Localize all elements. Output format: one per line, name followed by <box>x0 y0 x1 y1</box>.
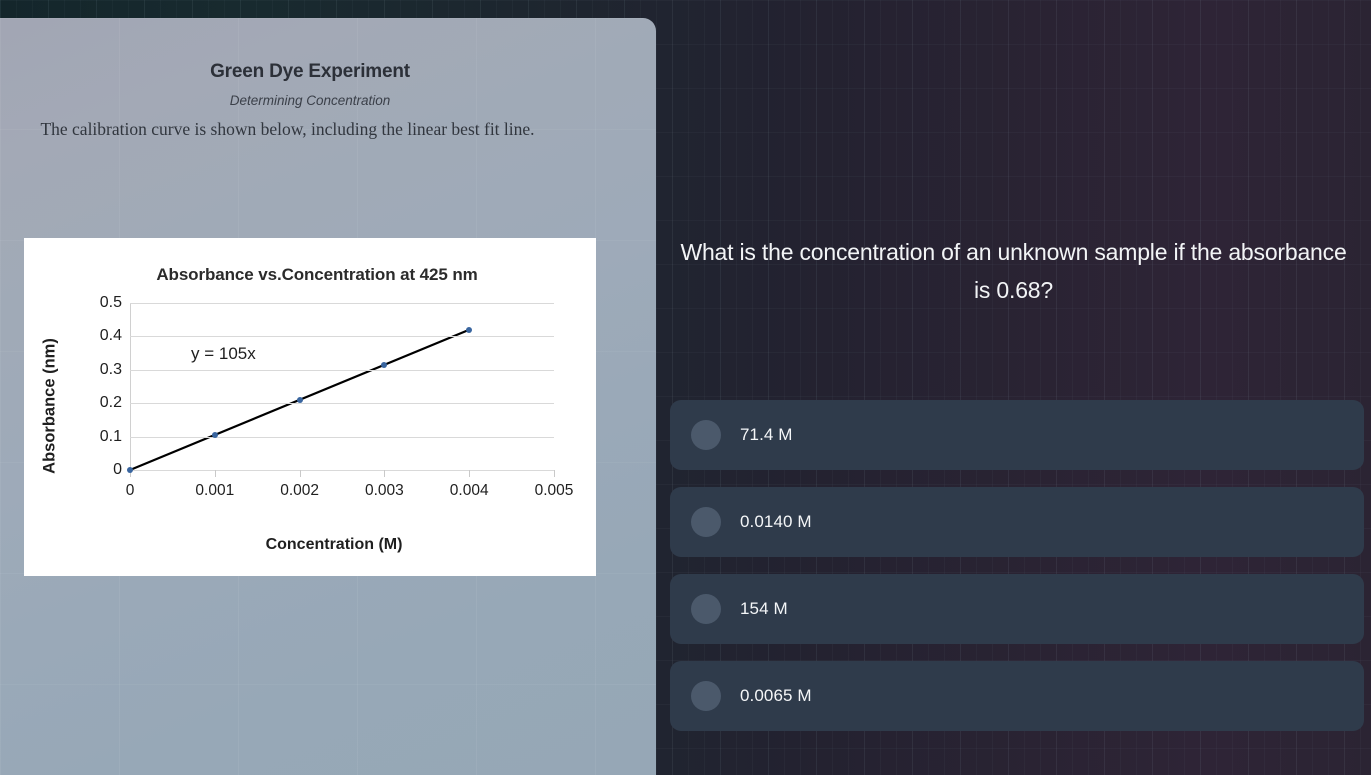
answer-option[interactable]: 0.0140 M <box>670 487 1364 557</box>
chart-x-tick-label: 0 <box>126 482 135 500</box>
chart-x-tick-label: 0.004 <box>450 482 489 500</box>
radio-icon[interactable] <box>691 594 721 624</box>
chart-y-tick-label: 0.5 <box>100 294 122 312</box>
document-body-text: The calibration curve is shown below, in… <box>0 119 575 140</box>
radio-icon[interactable] <box>691 420 721 450</box>
answer-option[interactable]: 71.4 M <box>670 400 1364 470</box>
chart-x-tick-mark <box>554 470 555 477</box>
document-subtitle: Determining Concentration <box>0 93 620 108</box>
chart-y-tick-label: 0.4 <box>100 327 122 345</box>
chart-series-layer <box>130 303 554 470</box>
chart-y-axis-label: Absorbance (nm) <box>41 338 60 474</box>
quiz-screen: Green Dye Experiment Determining Concent… <box>0 0 1371 775</box>
chart-title: Absorbance vs.Concentration at 425 nm <box>24 265 596 285</box>
radio-icon[interactable] <box>691 681 721 711</box>
answer-options-list: 71.4 M0.0140 M154 M0.0065 M <box>670 400 1364 748</box>
chart-plot-area: 00.10.20.30.40.500.0010.0020.0030.0040.0… <box>130 303 554 470</box>
answer-option-label: 71.4 M <box>740 425 793 445</box>
radio-icon[interactable] <box>691 507 721 537</box>
answer-option-label: 154 M <box>740 599 788 619</box>
chart-gridline <box>130 403 554 404</box>
chart-gridline <box>130 370 554 371</box>
chart-data-point <box>297 397 303 403</box>
answer-option[interactable]: 154 M <box>670 574 1364 644</box>
question-text: What is the concentration of an unknown … <box>674 233 1353 309</box>
answer-option-label: 0.0140 M <box>740 512 812 532</box>
document-title: Green Dye Experiment <box>0 61 620 83</box>
chart-x-tick-label: 0.005 <box>535 482 574 500</box>
chart-data-point <box>381 362 387 368</box>
chart-x-tick-mark <box>300 470 301 477</box>
chart-x-tick-mark <box>469 470 470 477</box>
chart-gridline <box>130 470 554 471</box>
chart-x-tick-label: 0.001 <box>195 482 234 500</box>
chart-data-point <box>127 467 133 473</box>
chart-gridline <box>130 303 554 304</box>
chart-equation-annotation: y = 105x <box>191 344 256 364</box>
chart-x-tick-mark <box>215 470 216 477</box>
chart-x-axis-label: Concentration (M) <box>24 536 596 554</box>
chart-data-point <box>466 327 472 333</box>
chart-gridline <box>130 336 554 337</box>
chart-y-tick-label: 0.3 <box>100 361 122 379</box>
answer-option-label: 0.0065 M <box>740 686 812 706</box>
chart-gridline <box>130 437 554 438</box>
answer-option[interactable]: 0.0065 M <box>670 661 1364 731</box>
chart-x-tick-mark <box>384 470 385 477</box>
chart-x-tick-label: 0.002 <box>280 482 319 500</box>
chart-y-tick-label: 0 <box>113 461 122 479</box>
question-panel: What is the concentration of an unknown … <box>656 0 1371 775</box>
chart-y-tick-label: 0.2 <box>100 394 122 412</box>
chart-x-tick-label: 0.003 <box>365 482 404 500</box>
calibration-chart-card: Absorbance vs.Concentration at 425 nm Ab… <box>24 238 596 576</box>
chart-y-tick-label: 0.1 <box>100 428 122 446</box>
reference-panel: Green Dye Experiment Determining Concent… <box>0 18 656 775</box>
chart-data-point <box>212 432 218 438</box>
